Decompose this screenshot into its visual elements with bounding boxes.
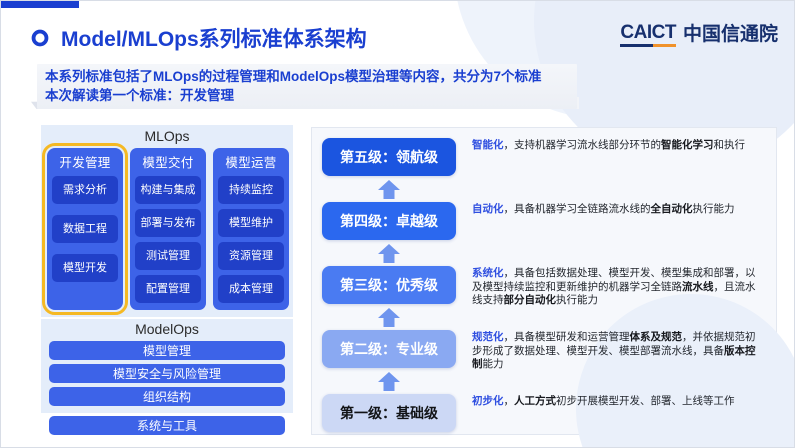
mlops-group: MLOps 开发管理 需求分析 数据工程 模型开发 模型交付 构建与集成 部署与… <box>41 125 293 317</box>
subtitle-text: 本系列标准包括了MLOps的过程管理和ModelOps模型治理等内容，共分为7个… <box>45 67 575 105</box>
subtitle-line-2: 本次解读第一个标准：开发管理 <box>45 86 575 105</box>
ring-icon <box>31 29 49 47</box>
maturity-level-box[interactable]: 第五级：领航级 <box>322 138 456 176</box>
description-text: ，具备机器学习全链路流水线的 <box>504 203 651 215</box>
description-text: 初步开展模型开发、部署、上线等工作 <box>556 395 735 407</box>
slide-canvas: Model/MLOps系列标准体系架构 CAICT 中国信通院 本系列标准包括了… <box>0 0 795 448</box>
chip-model-development[interactable]: 模型开发 <box>52 254 118 282</box>
up-arrow-icon <box>374 178 404 200</box>
description-text: ，支持机器学习流水线部分环节的 <box>504 139 662 151</box>
maturity-level-row: 第一级：基础级初步化，人工方式初步开展模型开发、部署、上线等工作 <box>322 394 768 432</box>
description-emphasis: 部分自动化 <box>504 294 557 306</box>
maturity-level-description: 规范化，具备模型研发和运营管理体系及规范，并依据规范初步形成了数据处理、模型开发… <box>456 330 768 372</box>
description-text: ，具备模型研发和运营管理 <box>504 331 630 343</box>
chip-config-management[interactable]: 配置管理 <box>135 275 201 303</box>
caict-underline <box>620 44 676 47</box>
description-text: 执行能力 <box>556 294 598 306</box>
up-arrow-icon <box>374 306 404 328</box>
column-title: 模型运营 <box>225 152 276 171</box>
maturity-panel: 第五级：领航级智能化，支持机器学习流水线部分环节的智能化学习和执行第四级：卓越级… <box>311 127 777 435</box>
chip-cost-management[interactable]: 成本管理 <box>218 275 284 303</box>
maturity-level-description: 系统化，具备包括数据处理、模型开发、模型集成和部署，以及模型持续监控和更新维护的… <box>456 266 768 308</box>
maturity-level-box[interactable]: 第四级：卓越级 <box>322 202 456 240</box>
description-text: 和执行 <box>714 139 746 151</box>
slide-header: Model/MLOps系列标准体系架构 <box>31 23 367 53</box>
bar-model-management[interactable]: 模型管理 <box>49 341 285 360</box>
chip-build-integration[interactable]: 构建与集成 <box>135 176 201 204</box>
chip-requirement-analysis[interactable]: 需求分析 <box>52 176 118 204</box>
description-emphasis: 全自动化 <box>651 203 693 215</box>
chip-data-engineering[interactable]: 数据工程 <box>52 215 118 243</box>
description-text: 能力 <box>483 358 504 370</box>
description-lead-term: 自动化 <box>472 203 504 215</box>
chip-test-management[interactable]: 测试管理 <box>135 242 201 270</box>
maturity-level-row: 第四级：卓越级自动化，具备机器学习全链路流水线的全自动化执行能力 <box>322 202 768 240</box>
subtitle-line-1: 本系列标准包括了MLOps的过程管理和ModelOps模型治理等内容，共分为7个… <box>45 67 575 86</box>
maturity-level-box[interactable]: 第二级：专业级 <box>322 330 456 368</box>
modelops-caption: ModelOps <box>41 321 293 337</box>
bar-org-structure[interactable]: 组织结构 <box>49 387 285 406</box>
column-title: 模型交付 <box>142 152 193 171</box>
bar-systems-and-tools[interactable]: 系统与工具 <box>49 416 285 435</box>
description-lead-term: 系统化 <box>472 267 504 279</box>
description-text: ， <box>504 395 515 407</box>
page-title: Model/MLOps系列标准体系架构 <box>61 23 367 53</box>
maturity-level-box[interactable]: 第三级：优秀级 <box>322 266 456 304</box>
caict-underline-orange <box>653 44 676 47</box>
bar-model-security-risk[interactable]: 模型安全与风险管理 <box>49 364 285 383</box>
maturity-level-row: 第五级：领航级智能化，支持机器学习流水线部分环节的智能化学习和执行 <box>322 138 768 176</box>
chip-resource-management[interactable]: 资源管理 <box>218 242 284 270</box>
maturity-level-description: 初步化，人工方式初步开展模型开发、部署、上线等工作 <box>456 394 768 409</box>
top-accent-bar <box>1 1 79 8</box>
chip-model-maintenance[interactable]: 模型维护 <box>218 209 284 237</box>
mlops-columns: 开发管理 需求分析 数据工程 模型开发 模型交付 构建与集成 部署与发布 测试管… <box>47 148 289 310</box>
column-title: 开发管理 <box>59 152 110 171</box>
maturity-level-description: 自动化，具备机器学习全链路流水线的全自动化执行能力 <box>456 202 768 217</box>
mlops-column-delivery[interactable]: 模型交付 构建与集成 部署与发布 测试管理 配置管理 <box>130 148 206 310</box>
description-text: 执行能力 <box>693 203 735 215</box>
description-lead-term: 智能化 <box>472 139 504 151</box>
maturity-level-row: 第二级：专业级规范化，具备模型研发和运营管理体系及规范，并依据规范初步形成了数据… <box>322 330 768 372</box>
modelops-group: ModelOps 模型管理 模型安全与风险管理 组织结构 <box>41 319 293 413</box>
chip-deploy-release[interactable]: 部署与发布 <box>135 209 201 237</box>
caict-underline-blue <box>620 44 652 47</box>
caict-wordmark: CAICT <box>620 23 676 47</box>
caict-letters: CAICT <box>620 23 676 42</box>
description-emphasis: 流水线 <box>682 281 714 293</box>
description-lead-term: 初步化 <box>472 395 504 407</box>
description-lead-term: 规范化 <box>472 331 504 343</box>
up-arrow-icon <box>374 242 404 264</box>
maturity-level-box[interactable]: 第一级：基础级 <box>322 394 456 432</box>
caict-logo: CAICT 中国信通院 <box>620 23 778 47</box>
maturity-level-row: 第三级：优秀级系统化，具备包括数据处理、模型开发、模型集成和部署，以及模型持续监… <box>322 266 768 308</box>
mlops-column-operations[interactable]: 模型运营 持续监控 模型维护 资源管理 成本管理 <box>213 148 289 310</box>
description-emphasis: 体系及规范 <box>630 331 683 343</box>
up-arrow-icon <box>374 370 404 392</box>
mlops-caption: MLOps <box>41 128 293 144</box>
caict-chinese-name: 中国信通院 <box>683 25 778 47</box>
description-emphasis: 人工方式 <box>514 395 556 407</box>
chip-continuous-monitoring[interactable]: 持续监控 <box>218 176 284 204</box>
maturity-level-list: 第五级：领航级智能化，支持机器学习流水线部分环节的智能化学习和执行第四级：卓越级… <box>312 128 776 434</box>
description-emphasis: 智能化学习 <box>661 139 714 151</box>
mlops-column-development[interactable]: 开发管理 需求分析 数据工程 模型开发 <box>47 148 123 310</box>
maturity-level-description: 智能化，支持机器学习流水线部分环节的智能化学习和执行 <box>456 138 768 153</box>
architecture-panel: MLOps 开发管理 需求分析 数据工程 模型开发 模型交付 构建与集成 部署与… <box>41 125 293 435</box>
